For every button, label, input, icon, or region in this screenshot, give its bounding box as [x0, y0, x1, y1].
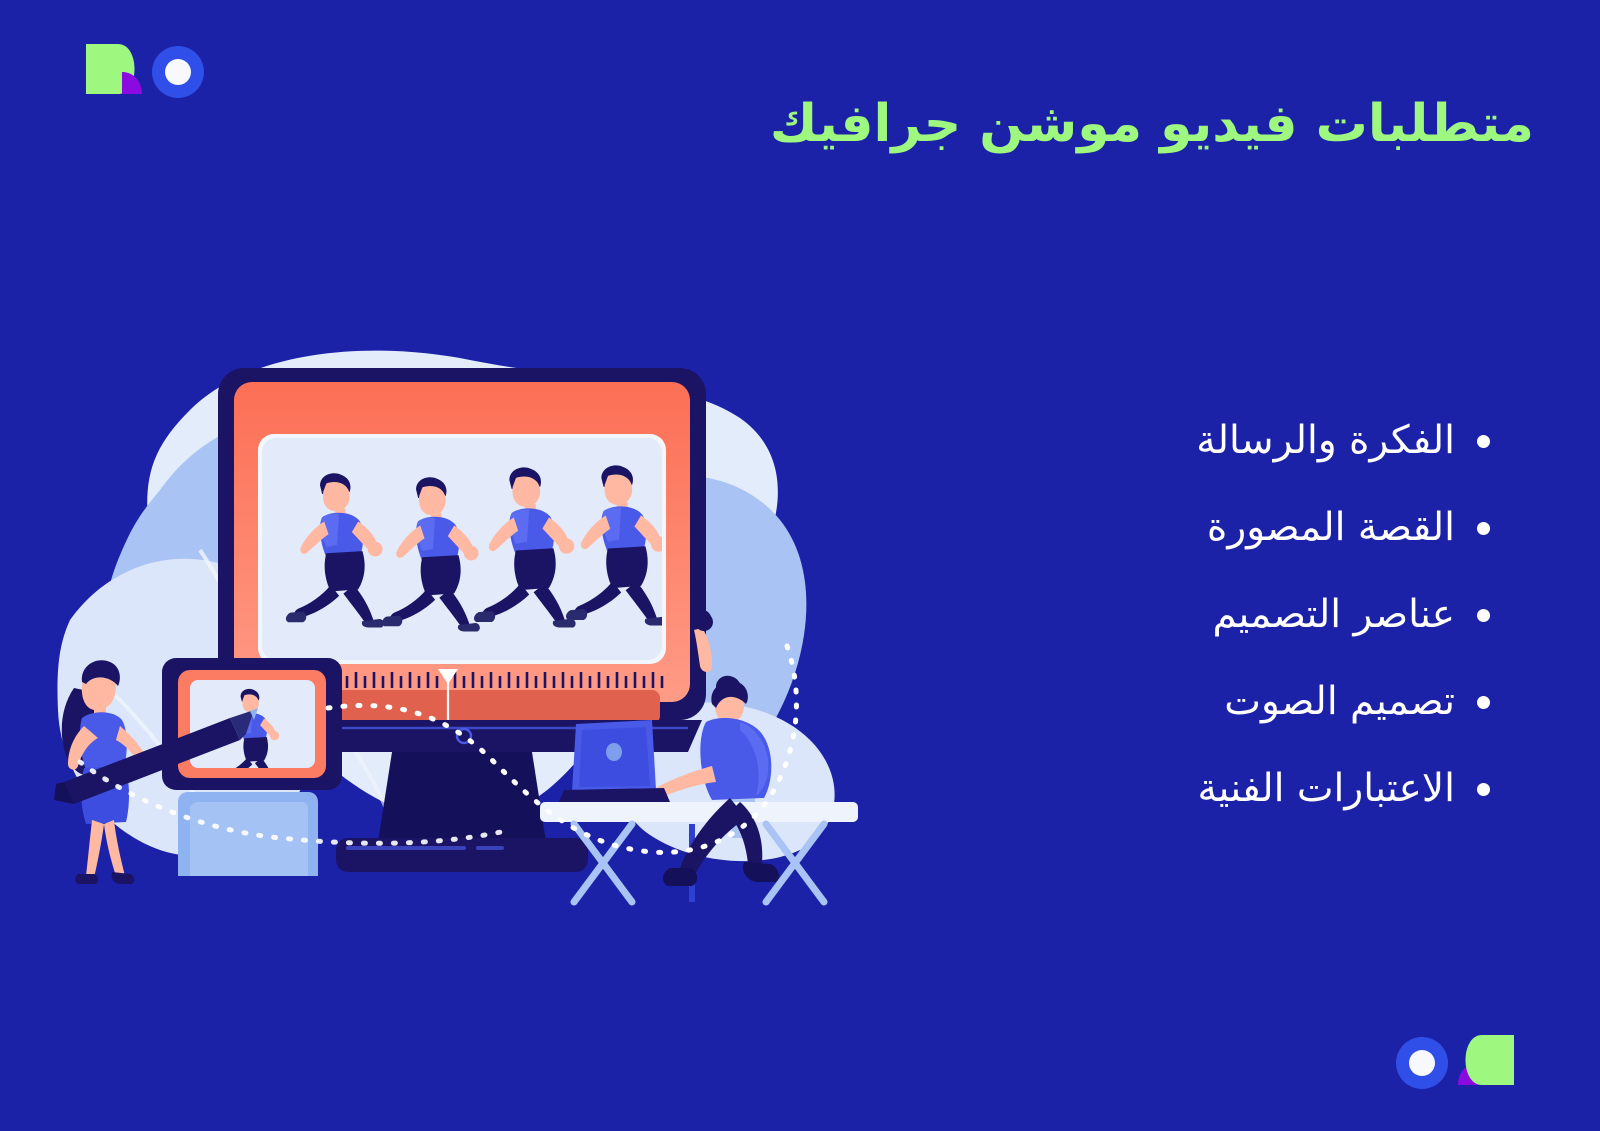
list-item: الفكرة والرسالة [1070, 398, 1490, 485]
tablet-device [162, 658, 342, 876]
bullet-dot-icon [1477, 696, 1490, 709]
worker-shoe [743, 862, 779, 882]
motion-graphics-illustration [40, 290, 940, 910]
list-item-label: تصميم الصوت [1224, 679, 1455, 726]
list-item-label: القصة المصورة [1207, 505, 1455, 552]
list-item: القصة المصورة [1070, 485, 1490, 572]
worker-shoe [663, 868, 697, 886]
woman-leg-back [86, 820, 104, 882]
logo-bottom-right [1382, 1029, 1522, 1091]
bullet-dot-icon [1477, 522, 1490, 535]
slide-root: متطلبات فيديو موشن جرافيك الفكرة والرسال… [0, 0, 1600, 1131]
bullet-dot-icon [1477, 609, 1490, 622]
requirements-list: الفكرة والرسالة القصة المصورة عناصر التص… [1070, 398, 1490, 833]
logo-green-shape [1466, 1035, 1515, 1085]
page-title: متطلبات فيديو موشن جرافيك [634, 92, 1534, 157]
logo-white-dot [165, 59, 191, 85]
monitor-stand-column [378, 752, 546, 842]
monitor-stand-base [336, 838, 588, 872]
list-item: الاعتبارات الفنية [1070, 746, 1490, 833]
list-item: تصميم الصوت [1070, 659, 1490, 746]
list-item: عناصر التصميم [1070, 572, 1490, 659]
timeline-track[interactable] [302, 690, 660, 724]
list-item-label: الاعتبارات الفنية [1198, 766, 1455, 813]
logo-white-dot [1409, 1050, 1435, 1076]
list-item-label: الفكرة والرسالة [1196, 418, 1455, 465]
logo-purple-quarter [122, 72, 142, 94]
bullet-dot-icon [1477, 783, 1490, 796]
bullet-dot-icon [1477, 435, 1490, 448]
logo-top-left [78, 38, 218, 100]
desk-top [540, 802, 858, 822]
list-item-label: عناصر التصميم [1212, 592, 1455, 639]
